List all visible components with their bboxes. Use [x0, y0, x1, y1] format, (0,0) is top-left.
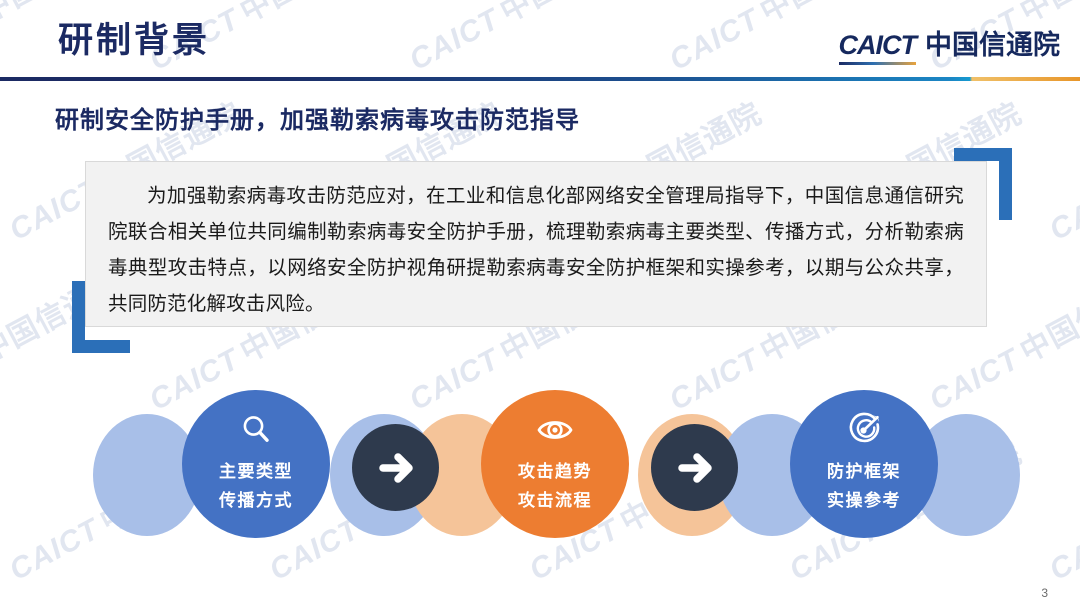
flow-connector-2	[651, 424, 738, 511]
watermark-text: CAICT中国信通院	[660, 599, 908, 608]
watermark-text: CAICT中国信通院	[1040, 89, 1080, 249]
magnifier-icon	[236, 410, 276, 450]
brand-mark: CAICT	[839, 30, 917, 65]
target-icon	[844, 410, 884, 450]
brand-chinese-name: 中国信通院	[925, 23, 1060, 62]
flow-step-1-line2: 传播方式	[219, 486, 293, 515]
arrow-right-icon	[374, 446, 418, 490]
flow-step-1[interactable]: 主要类型 传播方式	[182, 390, 330, 538]
corner-bracket-top-right	[954, 148, 1012, 220]
flow-diagram: 主要类型 传播方式 攻击趋势 攻击流程	[0, 372, 1080, 562]
watermark-text: CAICT中国信通院	[400, 599, 648, 608]
watermark-text: CAICT中国信通院	[140, 599, 388, 608]
header-divider-rule	[0, 77, 1080, 81]
watermark-text: CAICT中国信通院	[0, 599, 128, 608]
brand-logo: CAICT 中国信通院	[839, 23, 1061, 65]
flow-step-2-line1: 攻击趋势	[518, 457, 592, 486]
flow-step-2[interactable]: 攻击趋势 攻击流程	[481, 390, 629, 538]
flow-step-3-line2: 实操参考	[827, 486, 901, 515]
section-subtitle: 研制安全防护手册，加强勒索病毒攻击防范指导	[55, 100, 580, 135]
flow-step-2-line2: 攻击流程	[518, 486, 592, 515]
watermark-text: CAICT中国信通院	[920, 599, 1080, 608]
flow-step-1-line1: 主要类型	[219, 457, 293, 486]
arrow-right-icon	[673, 446, 717, 490]
brand-mark-text: CAICT	[839, 30, 917, 60]
body-block: 为加强勒索病毒攻击防范应对，在工业和信息化部网络安全管理局指导下，中国信息通信研…	[72, 148, 1012, 353]
body-paragraph: 为加强勒索病毒攻击防范应对，在工业和信息化部网络安全管理局指导下，中国信息通信研…	[108, 178, 964, 322]
page-title: 研制背景	[58, 18, 210, 64]
brand-underline	[839, 62, 917, 65]
eye-icon	[535, 410, 575, 450]
body-card: 为加强勒索病毒攻击防范应对，在工业和信息化部网络安全管理局指导下，中国信息通信研…	[85, 161, 987, 327]
flow-connector-1	[352, 424, 439, 511]
slide: CAICT中国信通院CAICT中国信通院CAICT中国信通院CAICT中国信通院…	[0, 0, 1080, 608]
flow-step-3[interactable]: 防护框架 实操参考	[790, 390, 938, 538]
page-number: 3	[1041, 586, 1048, 600]
slide-header: 研制背景 CAICT 中国信通院	[0, 0, 1080, 82]
flow-step-3-line1: 防护框架	[827, 457, 901, 486]
corner-bracket-bottom-left	[72, 281, 130, 353]
